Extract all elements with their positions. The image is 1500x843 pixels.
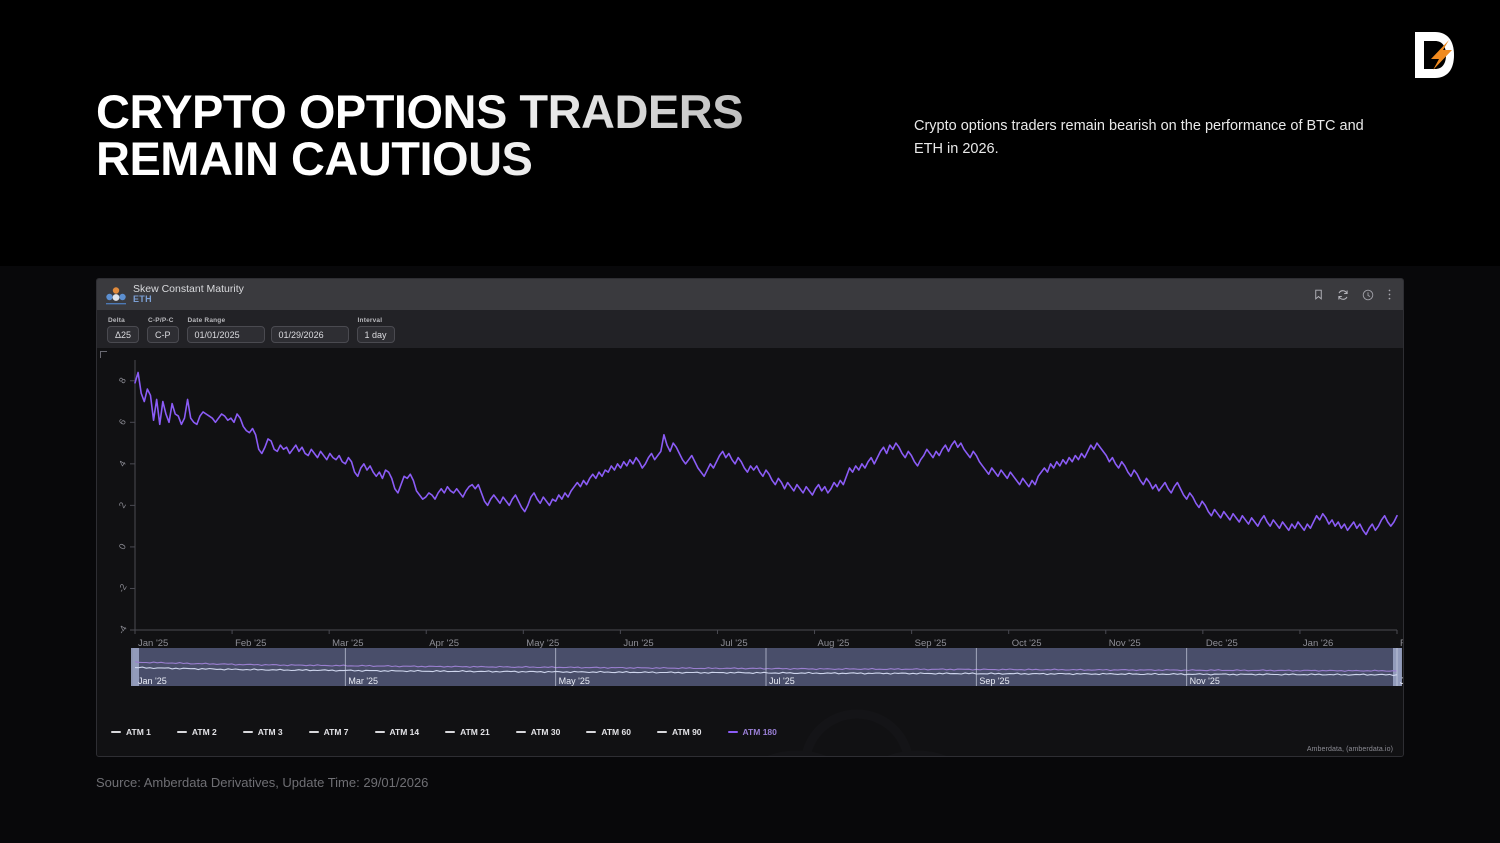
legend-item-atm-90[interactable]: ATM 90 bbox=[657, 727, 702, 737]
legend-item-atm-21[interactable]: ATM 21 bbox=[445, 727, 490, 737]
svg-text:8: 8 bbox=[117, 376, 128, 385]
svg-text:Sep '25: Sep '25 bbox=[915, 638, 947, 649]
control-interval-label: Interval bbox=[357, 317, 395, 324]
svg-text:Sep '25: Sep '25 bbox=[979, 676, 1009, 686]
legend-label: ATM 14 bbox=[390, 727, 420, 737]
legend-label: ATM 7 bbox=[324, 727, 349, 737]
legend-item-atm-3[interactable]: ATM 3 bbox=[243, 727, 283, 737]
chart-plot-area: amberdata86420-2-4Jan '25Feb '25Mar '25A… bbox=[97, 348, 1403, 757]
legend-item-atm-7[interactable]: ATM 7 bbox=[309, 727, 349, 737]
legend-swatch bbox=[586, 731, 596, 733]
svg-text:May '25: May '25 bbox=[526, 638, 559, 649]
legend-swatch bbox=[657, 731, 667, 733]
svg-text:Feb '26: Feb '26 bbox=[1400, 638, 1403, 649]
svg-text:4: 4 bbox=[117, 459, 128, 468]
legend-label: ATM 3 bbox=[258, 727, 283, 737]
widget-toolbar bbox=[1313, 288, 1395, 301]
svg-text:-2: -2 bbox=[116, 582, 129, 594]
svg-text:Mar '25: Mar '25 bbox=[348, 676, 378, 686]
legend-swatch bbox=[728, 731, 738, 733]
control-interval-value[interactable]: 1 day bbox=[357, 326, 395, 343]
legend-swatch bbox=[243, 731, 253, 733]
svg-text:Nov '25: Nov '25 bbox=[1190, 676, 1220, 686]
svg-text:Mar '25: Mar '25 bbox=[332, 638, 363, 649]
control-date-range-label: Date Range bbox=[187, 317, 349, 324]
svg-text:Jan '26: Jan '26 bbox=[1400, 676, 1403, 686]
people-group-icon bbox=[105, 285, 127, 305]
legend-item-atm-30[interactable]: ATM 30 bbox=[516, 727, 561, 737]
control-delta-value[interactable]: Δ25 bbox=[107, 326, 139, 343]
legend-swatch bbox=[516, 731, 526, 733]
slide-root: CRYPTO OPTIONS TRADERS REMAIN CAUTIOUS C… bbox=[0, 0, 1500, 843]
svg-text:Apr '25: Apr '25 bbox=[429, 638, 459, 649]
skew-chart-widget: Skew Constant Maturity ETH bbox=[96, 278, 1404, 757]
svg-text:Feb '25: Feb '25 bbox=[235, 638, 266, 649]
source-caption: Source: Amberdata Derivatives, Update Ti… bbox=[96, 775, 428, 790]
bookmark-icon[interactable] bbox=[1313, 289, 1324, 300]
legend-swatch bbox=[177, 731, 187, 733]
control-date-range: Date Range 01/01/2025 01/29/2026 bbox=[187, 317, 349, 343]
legend-label: ATM 60 bbox=[601, 727, 631, 737]
legend-item-atm-2[interactable]: ATM 2 bbox=[177, 727, 217, 737]
legend-swatch bbox=[309, 731, 319, 733]
svg-text:Jan '26: Jan '26 bbox=[1303, 638, 1333, 649]
legend-label: ATM 21 bbox=[460, 727, 490, 737]
legend-item-atm-180[interactable]: ATM 180 bbox=[728, 727, 777, 737]
hero-section: CRYPTO OPTIONS TRADERS REMAIN CAUTIOUS C… bbox=[0, 0, 1500, 266]
control-cp-pc: C-P/P-C C-P bbox=[147, 317, 179, 343]
legend-swatch bbox=[445, 731, 455, 733]
widget-controls: Delta Δ25 C-P/P-C C-P Date Range 01/01/2… bbox=[97, 310, 1403, 348]
legend-item-atm-14[interactable]: ATM 14 bbox=[375, 727, 420, 737]
widget-symbol: ETH bbox=[133, 295, 244, 304]
legend-swatch bbox=[111, 731, 121, 733]
legend-label: ATM 30 bbox=[531, 727, 561, 737]
svg-text:Nov '25: Nov '25 bbox=[1109, 638, 1141, 649]
legend-label: ATM 90 bbox=[672, 727, 702, 737]
widget-header: Skew Constant Maturity ETH bbox=[97, 279, 1403, 310]
more-vertical-icon[interactable] bbox=[1387, 288, 1392, 301]
chart-legend: ATM 1ATM 2ATM 3ATM 7ATM 14ATM 21ATM 30AT… bbox=[97, 727, 1403, 737]
svg-text:-4: -4 bbox=[116, 624, 129, 636]
svg-text:May '25: May '25 bbox=[559, 676, 590, 686]
amberdata-logo bbox=[1411, 29, 1456, 81]
line-chart-svg[interactable]: amberdata86420-2-4Jan '25Feb '25Mar '25A… bbox=[97, 348, 1403, 757]
svg-text:Jul '25: Jul '25 bbox=[720, 638, 747, 649]
legend-item-atm-1[interactable]: ATM 1 bbox=[111, 727, 151, 737]
svg-text:6: 6 bbox=[117, 417, 128, 426]
svg-text:Jan '25: Jan '25 bbox=[138, 676, 167, 686]
svg-text:2: 2 bbox=[117, 500, 128, 509]
svg-text:Jun '25: Jun '25 bbox=[623, 638, 653, 649]
control-delta-label: Delta bbox=[107, 317, 139, 324]
info-circle-icon[interactable] bbox=[1362, 289, 1374, 301]
legend-label: ATM 180 bbox=[743, 727, 777, 737]
page-title: CRYPTO OPTIONS TRADERS REMAIN CAUTIOUS bbox=[96, 88, 896, 182]
legend-item-atm-60[interactable]: ATM 60 bbox=[586, 727, 631, 737]
refresh-icon[interactable] bbox=[1337, 289, 1349, 301]
date-range-end-input[interactable]: 01/29/2026 bbox=[271, 326, 349, 343]
legend-label: ATM 1 bbox=[126, 727, 151, 737]
svg-text:Oct '25: Oct '25 bbox=[1012, 638, 1042, 649]
chart-attribution: Amberdata, (amberdata.io) bbox=[1307, 746, 1393, 753]
legend-label: ATM 2 bbox=[192, 727, 217, 737]
svg-text:Jan '25: Jan '25 bbox=[138, 638, 168, 649]
control-interval: Interval 1 day bbox=[357, 317, 395, 343]
svg-text:0: 0 bbox=[117, 542, 128, 551]
svg-text:Dec '25: Dec '25 bbox=[1206, 638, 1238, 649]
hero-subtitle: Crypto options traders remain bearish on… bbox=[914, 115, 1394, 161]
control-cp-pc-value[interactable]: C-P bbox=[147, 326, 179, 343]
svg-text:Jul '25: Jul '25 bbox=[769, 676, 795, 686]
svg-text:Aug '25: Aug '25 bbox=[818, 638, 850, 649]
date-range-start-input[interactable]: 01/01/2025 bbox=[187, 326, 265, 343]
control-delta: Delta Δ25 bbox=[107, 317, 139, 343]
legend-swatch bbox=[375, 731, 385, 733]
control-cp-pc-label: C-P/P-C bbox=[147, 317, 179, 324]
